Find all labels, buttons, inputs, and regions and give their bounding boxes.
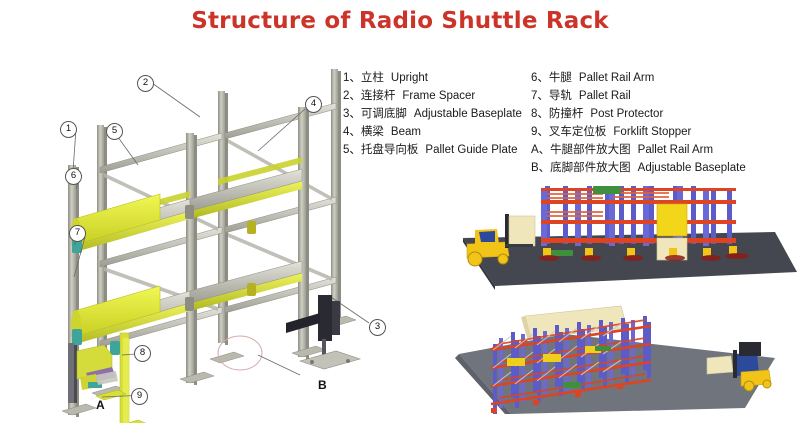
page-title: Structure of Radio Shuttle Rack — [0, 8, 800, 34]
legend-label-en: Forklift Stopper — [606, 126, 691, 138]
render-warehouse-array — [445, 302, 800, 420]
rack-structure-diagram — [0, 55, 400, 423]
legend-column-left: 1、立柱Upright2、连接杆Frame Spacer3、可调底脚Adjust… — [343, 69, 522, 159]
legend-label-cn: 底脚部件放大图 — [550, 162, 631, 174]
callout-1: 1 — [60, 121, 77, 138]
render-bottom-svg — [445, 302, 800, 420]
legend-item-6: 6、牛腿Pallet Rail Arm — [531, 69, 746, 87]
detail-b-adjustable-baseplate — [286, 295, 360, 369]
legend-index: 5、 — [343, 144, 361, 156]
legend-label-cn: 牛腿部件放大图 — [550, 144, 631, 156]
legend-label-en: Pallet Guide Plate — [418, 144, 517, 156]
legend-label-cn: 立柱 — [361, 72, 384, 84]
legend-index: 2、 — [343, 90, 361, 102]
legend-item-9: 9、叉车定位板Forklift Stopper — [531, 123, 746, 141]
callout-7: 7 — [69, 225, 86, 242]
detail-label-B: B — [318, 378, 327, 392]
legend-item-4: 4、横梁Beam — [343, 123, 522, 141]
legend-label-en: Post Protector — [583, 108, 663, 120]
legend-label-en: Pallet Rail Arm — [572, 72, 654, 84]
legend-item-7: 7、导轨Pallet Rail — [531, 87, 746, 105]
legend-label-cn: 牛腿 — [549, 72, 572, 84]
legend-item-8: 8、防撞杆Post Protector — [531, 105, 746, 123]
legend-label-en: Adjustable Baseplate — [407, 108, 522, 120]
detail-label-A: A — [96, 398, 105, 412]
legend-item-5: 5、托盘导向板Pallet Guide Plate — [343, 141, 522, 159]
legend-label-cn: 托盘导向板 — [361, 144, 419, 156]
legend-index: 4、 — [343, 126, 361, 138]
legend-label-cn: 叉车定位板 — [549, 126, 607, 138]
legend-label-en: Upright — [384, 72, 428, 84]
legend-index: 3、 — [343, 108, 361, 120]
callout-6: 6 — [65, 168, 82, 185]
rack-structure-svg — [0, 55, 400, 423]
callout-8: 8 — [134, 345, 151, 362]
legend-label-en: Pallet Rail Arm — [631, 144, 713, 156]
legend-index: 7、 — [531, 90, 549, 102]
render-top-svg — [445, 186, 800, 296]
legend-label-cn: 防撞杆 — [549, 108, 584, 120]
callout-5: 5 — [106, 123, 123, 140]
legend-index: B、 — [531, 162, 550, 174]
legend-item-3: 3、可调底脚Adjustable Baseplate — [343, 105, 522, 123]
legend-label-en: Pallet Rail — [572, 90, 631, 102]
callout-4: 4 — [305, 96, 322, 113]
legend-label-cn: 连接杆 — [361, 90, 396, 102]
legend-index: 8、 — [531, 108, 549, 120]
legend-column-right: 6、牛腿Pallet Rail Arm7、导轨Pallet Rail8、防撞杆P… — [531, 69, 746, 177]
legend-label-cn: 导轨 — [549, 90, 572, 102]
legend-item-A: A、牛腿部件放大图Pallet Rail Arm — [531, 141, 746, 159]
legend-label-en: Adjustable Baseplate — [631, 162, 746, 174]
callout-2: 2 — [137, 75, 154, 92]
legend-item-B: B、底脚部件放大图Adjustable Baseplate — [531, 159, 746, 177]
legend-item-2: 2、连接杆Frame Spacer — [343, 87, 522, 105]
legend-label-en: Frame Spacer — [395, 90, 475, 102]
legend-index: 1、 — [343, 72, 361, 84]
callout-9: 9 — [131, 388, 148, 405]
render-rack-with-forklift — [445, 186, 800, 296]
legend-item-1: 1、立柱Upright — [343, 69, 522, 87]
callout-3: 3 — [369, 319, 386, 336]
legend-index: A、 — [531, 144, 550, 156]
legend-label-en: Beam — [384, 126, 421, 138]
legend-label-cn: 可调底脚 — [361, 108, 407, 120]
legend-index: 9、 — [531, 126, 549, 138]
legend-label-cn: 横梁 — [361, 126, 384, 138]
legend-index: 6、 — [531, 72, 549, 84]
